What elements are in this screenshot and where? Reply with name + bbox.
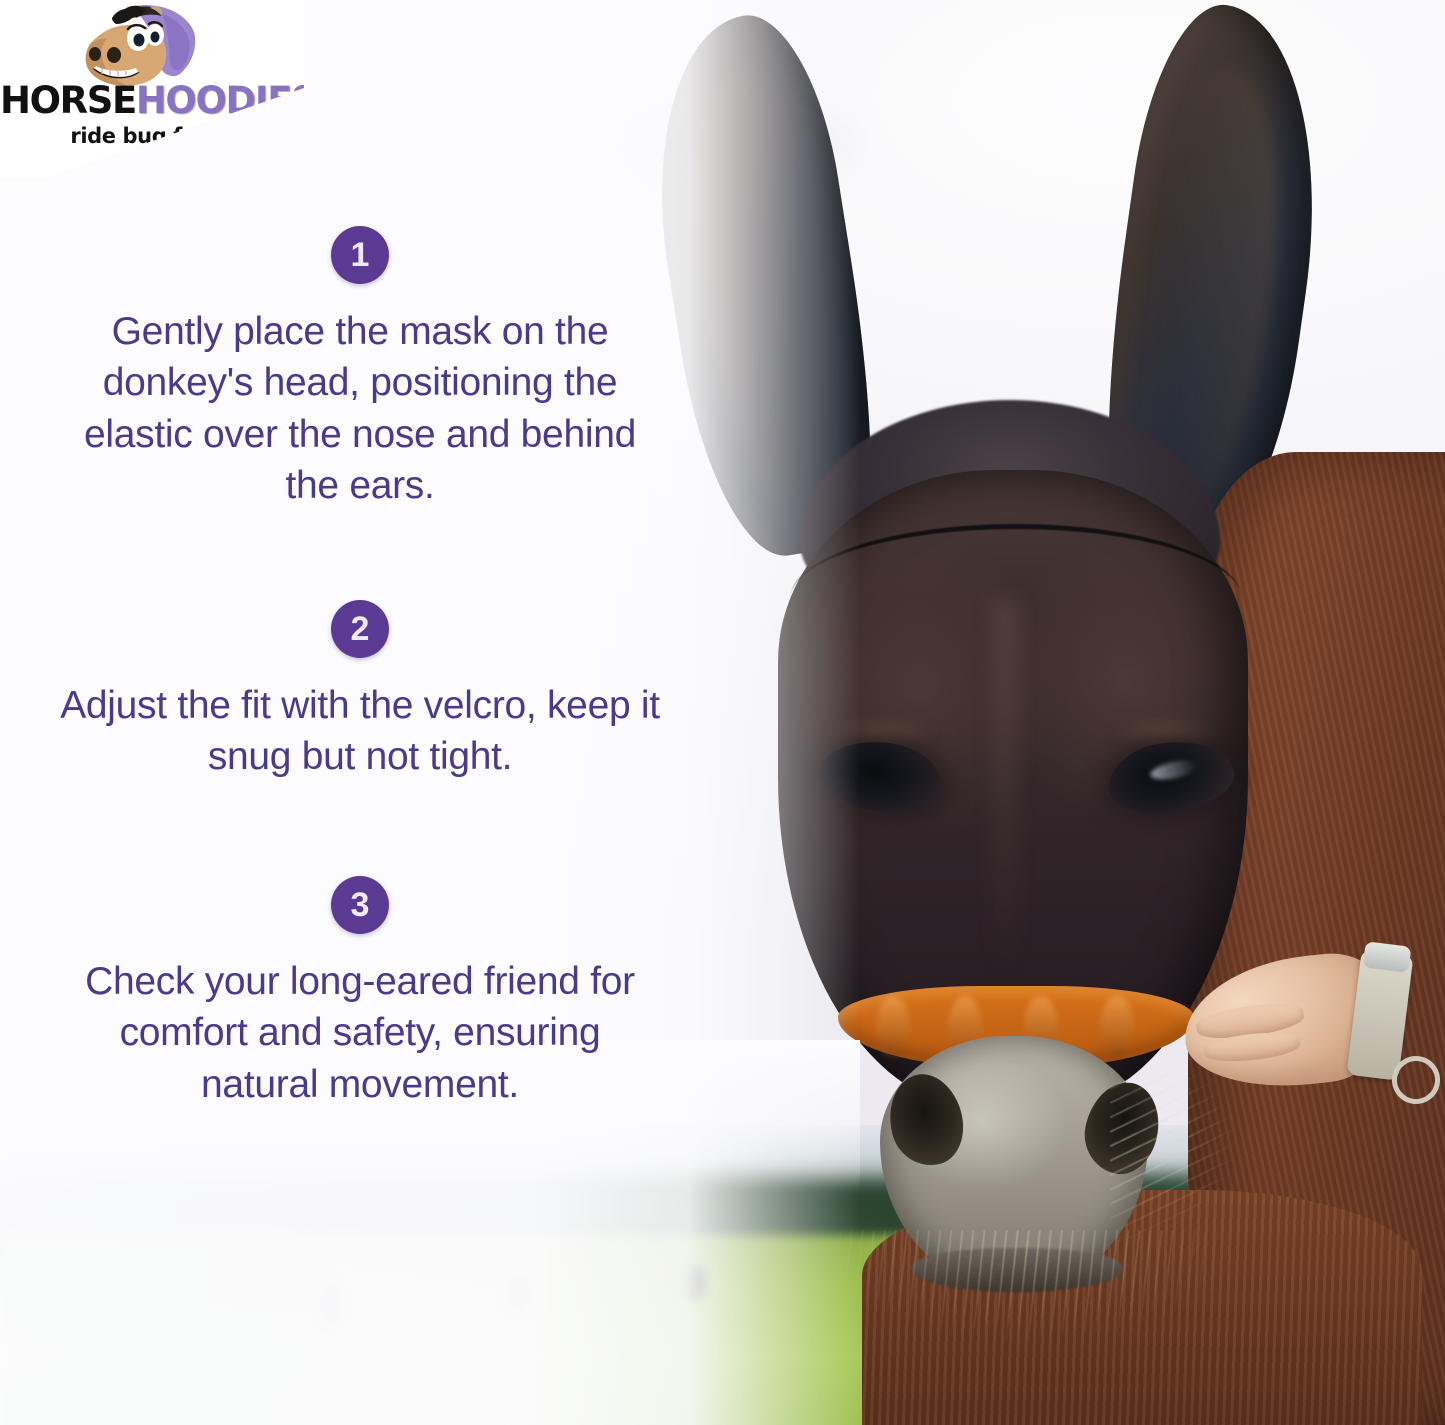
wrist-watch-face	[1363, 941, 1412, 972]
trim-fold	[1100, 996, 1134, 1058]
chin-hair	[840, 1230, 1260, 1425]
step-number-badge-1: 1	[331, 226, 389, 284]
step-number-badge-3: 3	[331, 876, 389, 934]
instruction-steps: 1 Gently place the mask on the donkey's …	[0, 0, 720, 1425]
step-item-1: 1 Gently place the mask on the donkey's …	[0, 226, 720, 512]
step-text-3: Check your long-eared friend for comfort…	[0, 956, 720, 1110]
step-text-1: Gently place the mask on the donkey's he…	[0, 306, 720, 512]
step-number-badge-2: 2	[331, 600, 389, 658]
step-item-2: 2 Adjust the fit with the velcro, keep i…	[0, 600, 720, 783]
infographic-canvas: HORSEHOODIES ride bug free 1 Gently plac…	[0, 0, 1445, 1425]
step-item-3: 3 Check your long-eared friend for comfo…	[0, 876, 720, 1110]
muzzle-whiskers	[1110, 1072, 1340, 1252]
trim-fold	[876, 996, 910, 1058]
step-text-2: Adjust the fit with the velcro, keep it …	[0, 680, 720, 783]
nose-bridge-highlight	[990, 600, 1020, 1040]
